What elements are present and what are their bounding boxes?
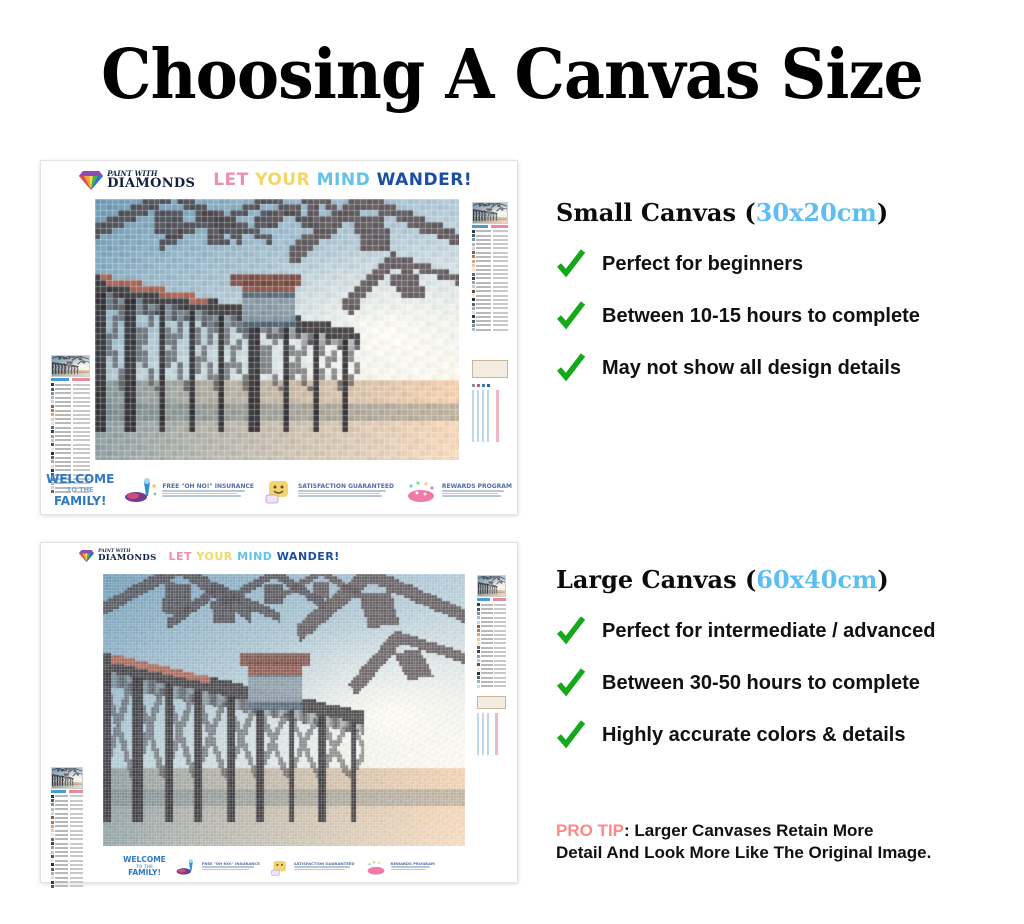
legend-row [477,663,507,666]
small-canvas-product-mock: PAINT WITH DIAMONDS LET YOUR MIND WANDER… [40,160,518,515]
mosaic-image-small [95,199,459,460]
legend-row [472,294,508,297]
heading-dimension: 30x20cm [756,198,877,227]
rewards-gem-icon [404,478,438,504]
legend-row [51,833,82,836]
feature-label: Highly accurate colors & details [602,724,905,747]
legend-row [477,625,507,628]
badge-body-lines [202,866,260,870]
legend-row [51,443,90,446]
legend-header [472,225,508,228]
tagline-word-your: YOUR [255,170,310,190]
badge-insurance-small: FREE "OH NO!" INSURANCE [124,478,254,504]
legend-row [477,680,507,683]
badge-body-lines [391,866,435,870]
legend-header [51,378,90,381]
feature-item: May not show all design details [556,353,920,383]
badge-title: FREE "OH NO!" INSURANCE [202,862,260,866]
legend-row [51,795,82,798]
legend-row [472,272,508,275]
pro-tip-line2: Detail And Look More Like The Original I… [556,842,931,864]
tagline-word-mind: MIND [317,170,371,190]
legend-row [472,242,508,245]
legend-row [472,247,508,250]
legend-row [477,603,507,606]
legend-row [472,302,508,305]
pro-tip-line1: PRO TIP: Larger Canvases Retain More [556,820,931,842]
legend-header [51,790,82,793]
legend-row [472,298,508,301]
welcome-family-text-small: WELCOME TO THE FAMILY! [46,473,114,508]
legend-row [51,387,90,390]
diamond-gem-icon [79,550,94,562]
check-icon [556,353,586,383]
legend-row [477,616,507,619]
legend-row [51,816,82,819]
color-legend-rail-right-small [472,202,508,333]
pro-tip: PRO TIP: Larger Canvases Retain More Det… [556,820,931,864]
tagline-word-let: LET [169,550,193,563]
legend-row [477,629,507,632]
preview-thumbnail [472,202,508,224]
legend-row [477,655,507,658]
color-legend-rail-right-large [477,575,507,689]
tagline-word-wander: WANDER! [277,550,340,563]
legend-row [51,447,90,450]
heading-label: Small Canvas ( [556,198,756,227]
legend-row [477,650,507,653]
legend-row [472,251,508,254]
badge-rewards-small: REWARDS PROGRAM [404,478,512,504]
legend-row [477,633,507,636]
feature-item: Perfect for beginners [556,249,920,279]
legend-row [51,846,82,849]
instruction-rail-right-large [477,696,507,755]
legend-row [477,685,507,688]
mosaic-image-large [103,574,465,847]
legend-row [51,803,82,806]
brand-logo-small: PAINT WITH DIAMONDS [79,170,195,190]
legend-row [472,230,508,233]
mosaic-artwork-large [103,574,465,847]
feature-label: Perfect for intermediate / advanced [602,620,935,643]
legend-row [51,812,82,815]
canvas-size-infographic: Choosing A Canvas Size PAINT WITH DIAMON… [0,0,1024,924]
legend-row [477,642,507,645]
paint-splash-icon [124,478,158,504]
legend-row [51,885,82,888]
mock-header-small: PAINT WITH DIAMONDS LET YOUR MIND WANDER… [41,161,517,199]
legend-row [477,659,507,662]
legend-row [51,838,82,841]
instruction-rail-right-small [472,360,508,442]
tagline-word-mind: MIND [237,550,272,563]
large-canvas-info: Large Canvas (60x40cm) Perfect for inter… [556,565,935,750]
badge-title: FREE "OH NO!" INSURANCE [162,484,254,490]
legend-header [477,598,507,601]
preview-thumbnail [51,767,82,789]
legend-row [472,277,508,280]
check-icon [556,301,586,331]
feature-item: Between 30-50 hours to complete [556,668,935,698]
legend-row [472,307,508,310]
feature-label: Between 30-50 hours to complete [602,672,920,695]
badge-body-lines [162,490,254,497]
preview-thumbnail [51,355,90,377]
welcome-line2: FAMILY! [128,868,161,877]
legend-row [51,460,90,463]
check-icon [556,720,586,750]
brand-text-small: PAINT WITH DIAMONDS [107,170,195,190]
legend-row [472,281,508,284]
check-icon [556,616,586,646]
tagline-word-your: YOUR [196,550,232,563]
check-icon [556,249,586,279]
legend-row [472,324,508,327]
tagline-word-let: LET [213,170,249,190]
legend-rows [477,603,507,688]
badge-body-lines [442,490,512,497]
legend-row [472,328,508,331]
rewards-gem-icon [365,859,387,876]
legend-row [477,607,507,610]
legend-row [472,320,508,323]
welcome-line1: WELCOME [123,855,166,864]
tagline-large: LET YOUR MIND WANDER! [169,550,340,563]
legend-row [51,825,82,828]
legend-row [51,383,90,386]
legend-row [472,290,508,293]
legend-row [472,311,508,314]
badge-satisfaction-small: SATISFACTION GUARANTEED [264,478,394,504]
welcome-line1: WELCOME [46,472,114,486]
feature-label: May not show all design details [602,357,901,380]
legend-row [477,672,507,675]
heading-dimension: 60x40cm [756,565,877,594]
brand-logo-large: PAINT WITH DIAMONDS [79,550,156,563]
legend-row [51,400,90,403]
legend-row [51,413,90,416]
legend-row [472,285,508,288]
large-canvas-product-mock: PAINT WITH DIAMONDS LET YOUR MIND WANDER… [40,542,518,883]
legend-row [51,422,90,425]
mosaic-artwork-small [95,199,459,460]
badge-insurance-large: FREE "OH NO!" INSURANCE [176,859,260,876]
legend-row [472,264,508,267]
legend-row [51,456,90,459]
happy-face-icon [270,859,290,876]
legend-row [51,820,82,823]
feature-label: Perfect for beginners [602,253,803,276]
badge-text-satisfaction-small: SATISFACTION GUARANTEED [298,484,394,498]
legend-row [51,409,90,412]
large-canvas-heading: Large Canvas (60x40cm) [556,565,935,594]
legend-rows [472,230,508,332]
brand-line2: DIAMONDS [107,177,195,190]
badge-rewards-large: REWARDS PROGRAM [365,859,435,876]
legend-row [477,646,507,649]
feature-label: Between 10-15 hours to complete [602,305,920,328]
legend-row [477,676,507,679]
legend-row [51,435,90,438]
legend-row [51,392,90,395]
pro-tip-tag: PRO TIP [556,821,624,840]
legend-row [472,234,508,237]
legend-row [477,612,507,615]
badge-text-satisfaction-large: SATISFACTION GUARANTEED [294,862,355,871]
pro-tip-text1: Larger Canvases Retain More [630,821,874,840]
badge-body-lines [298,490,394,497]
legend-row [51,808,82,811]
heading-close: ) [877,565,888,594]
legend-row [51,405,90,408]
legend-row [472,315,508,318]
badge-satisfaction-large: SATISFACTION GUARANTEED [270,859,355,876]
legend-row [477,667,507,670]
feature-item: Between 10-15 hours to complete [556,301,920,331]
badge-text-insurance-large: FREE "OH NO!" INSURANCE [202,862,260,871]
badge-title: SATISFACTION GUARANTEED [298,484,394,490]
feature-item: Highly accurate colors & details [556,720,935,750]
legend-row [472,260,508,263]
legend-row [472,238,508,241]
tagline-small: LET YOUR MIND WANDER! [213,170,472,190]
welcome-family-text-large: WELCOME TO THE FAMILY! [123,856,166,878]
badge-text-rewards-small: REWARDS PROGRAM [442,484,512,498]
legend-row [51,842,82,845]
legend-row [51,426,90,429]
brand-line2: DIAMONDS [98,554,156,563]
mock-footer-small: WELCOME TO THE FAMILY! FREE "OH NO!" INS… [41,468,517,514]
legend-row [51,396,90,399]
page-title: Choosing A Canvas Size [36,36,988,114]
welcome-line2: FAMILY! [54,494,106,508]
happy-face-icon [264,478,294,504]
legend-row [472,255,508,258]
legend-row [472,268,508,271]
heading-close: ) [877,198,888,227]
legend-row [51,439,90,442]
mock-footer-large: WELCOME TO THE FAMILY! FREE "OH NO!" INS… [41,852,517,882]
tagline-word-wander: WANDER! [377,170,472,190]
badge-title: SATISFACTION GUARANTEED [294,862,355,866]
feature-item: Perfect for intermediate / advanced [556,616,935,646]
small-canvas-info: Small Canvas (30x20cm) Perfect for begin… [556,198,920,383]
badge-title: REWARDS PROGRAM [391,862,435,866]
diamond-gem-icon [79,171,103,190]
check-icon [556,668,586,698]
badge-text-rewards-large: REWARDS PROGRAM [391,862,435,871]
legend-row [51,452,90,455]
legend-row [477,637,507,640]
legend-row [51,799,82,802]
preview-thumbnail [477,575,507,597]
brand-text-large: PAINT WITH DIAMONDS [98,550,156,563]
badge-body-lines [294,866,355,870]
small-canvas-heading: Small Canvas (30x20cm) [556,198,920,227]
heading-label: Large Canvas ( [556,565,756,594]
badge-title: REWARDS PROGRAM [442,484,512,490]
legend-row [51,430,90,433]
paint-splash-icon [176,859,198,876]
legend-row [477,620,507,623]
badge-text-insurance-small: FREE "OH NO!" INSURANCE [162,484,254,498]
mock-header-large: PAINT WITH DIAMONDS LET YOUR MIND WANDER… [41,543,517,569]
legend-row [51,829,82,832]
legend-row [51,417,90,420]
